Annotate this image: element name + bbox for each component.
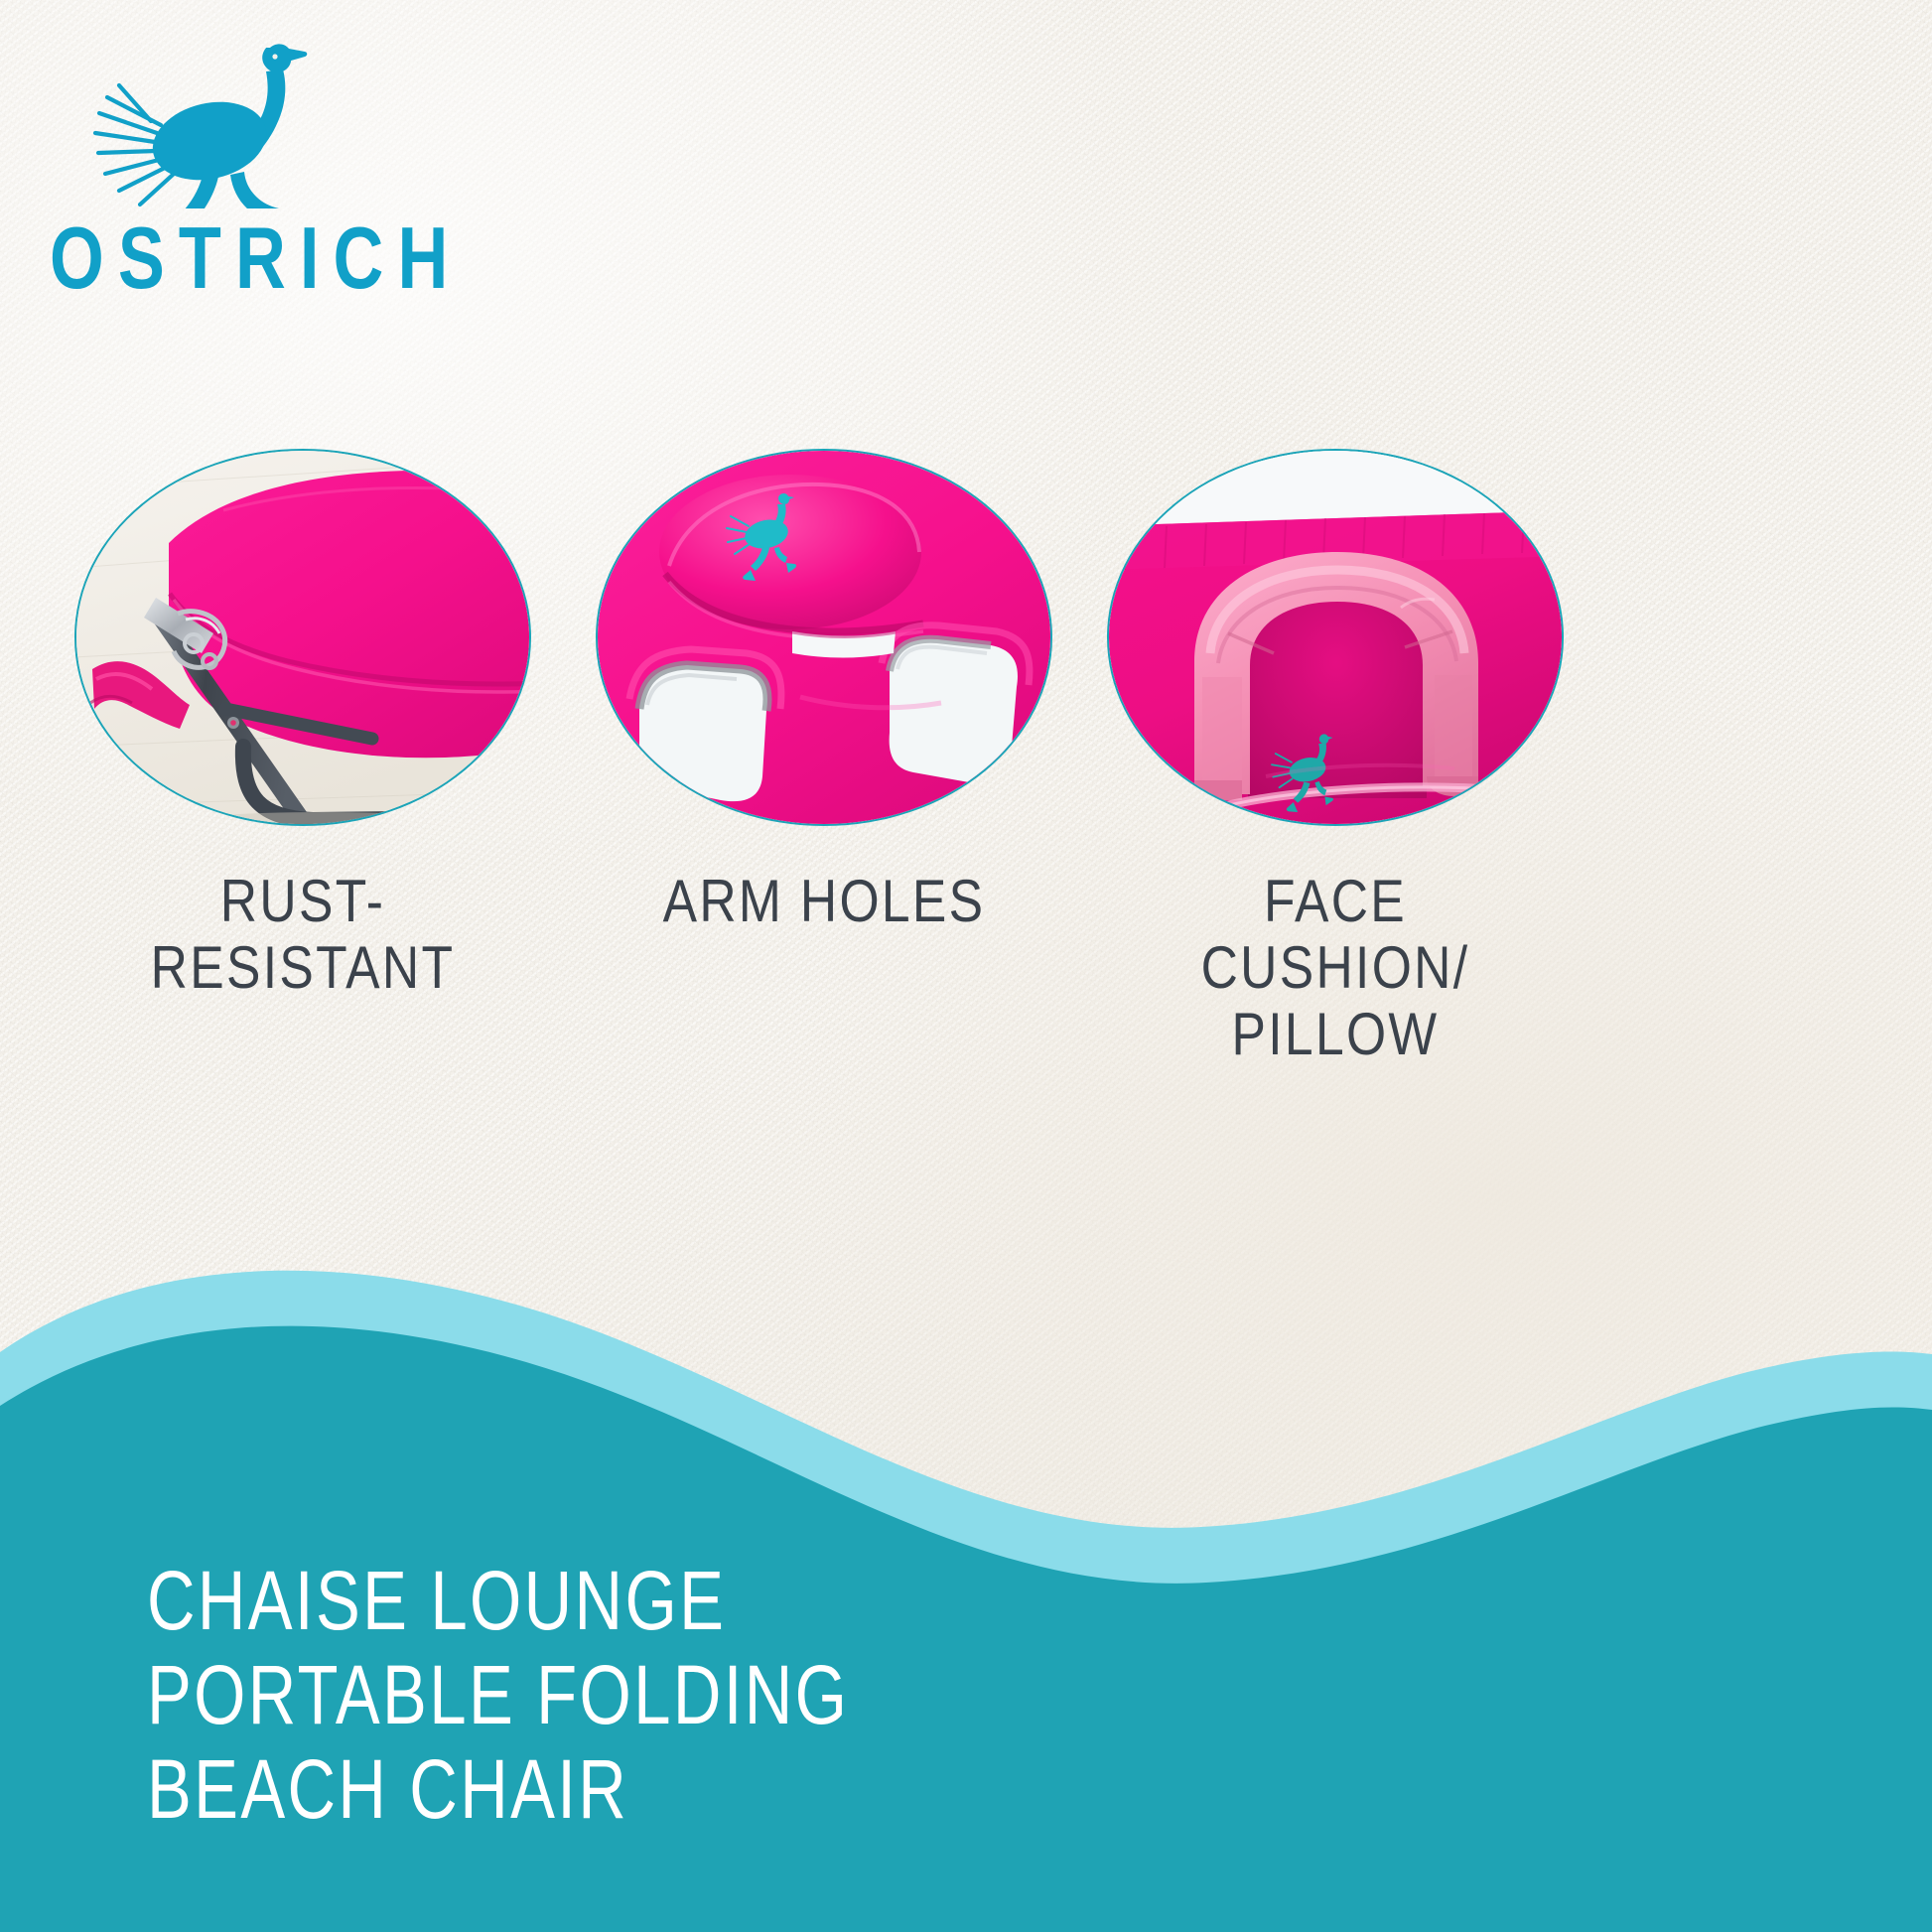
feature-row: RUST- RESISTANT — [0, 449, 1932, 1183]
photo-rust-resistant-frame — [74, 449, 531, 826]
ostrich-logo-icon — [0, 30, 496, 208]
feature-photo-circle — [1107, 449, 1564, 826]
feature-caption: RUST- RESISTANT — [106, 868, 499, 1001]
feature-card-rust-resistant: RUST- RESISTANT — [74, 449, 531, 1001]
product-headline: CHAISE LOUNGE PORTABLE FOLDING BEACH CHA… — [147, 1554, 849, 1837]
feature-caption: FACE CUSHION/ PILLOW — [1139, 868, 1532, 1068]
feature-card-arm-holes: ARM HOLES — [596, 449, 1052, 934]
feature-photo-circle — [596, 449, 1052, 826]
feature-caption: ARM HOLES — [627, 868, 1021, 934]
photo-face-cushion-pillow — [1107, 449, 1564, 826]
brand-logo: OSTRICH — [0, 30, 496, 302]
feature-photo-circle — [74, 449, 531, 826]
feature-card-face-cushion: FACE CUSHION/ PILLOW — [1107, 449, 1564, 1068]
brand-wordmark: OSTRICH — [50, 214, 447, 302]
infographic-canvas: OSTRICH — [0, 0, 1932, 1932]
photo-arm-holes — [596, 449, 1052, 826]
